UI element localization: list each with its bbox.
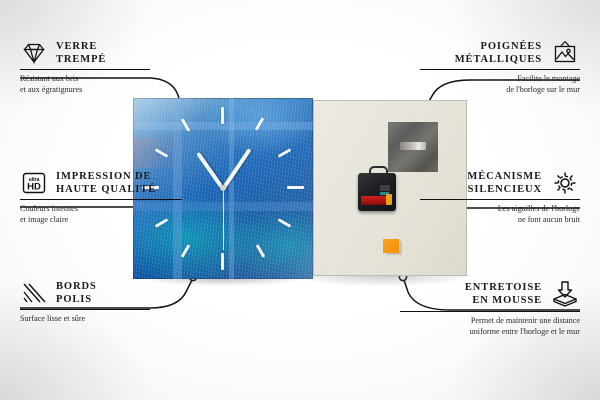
callout-header: ENTRETOISE EN MOUSSE: [400, 280, 580, 308]
callout-mecanisme-silencieux[interactable]: MÉCANISME SILENCIEUX Les aiguilles de l'…: [420, 170, 580, 225]
callout-subtitle-line1: Couleurs intenses: [20, 203, 190, 214]
callout-subtitle-line1: Facilite le montage: [420, 73, 580, 84]
callout-title-line2: SILENCIEUX: [467, 183, 542, 196]
callout-title-line1: MÉCANISME: [467, 170, 542, 183]
callout-header: ultra HD IMPRESSION DE HAUTE QUALITÉ: [20, 170, 190, 196]
ultra-hd-badge-bottom: HD: [27, 182, 41, 193]
callout-subtitle-line2: de l'horloge sur le mur: [420, 84, 580, 95]
battery-terminal: [386, 194, 392, 205]
hanging-frame-icon: [550, 40, 580, 66]
spacer-arrow-icon: [550, 280, 580, 308]
callout-rule: [20, 69, 150, 70]
callout-subtitle-line2: et image claire: [20, 214, 190, 225]
ultra-hd-badge-icon: ultra HD: [20, 171, 48, 195]
callout-title-line2: HAUTE QUALITÉ: [56, 183, 156, 196]
callout-header: MÉCANISME SILENCIEUX: [420, 170, 580, 196]
callout-title-line2: EN MOUSSE: [465, 294, 542, 307]
hanger-slot: [400, 142, 426, 150]
gear-icon: [550, 170, 580, 196]
callout-subtitle-line1: Les aiguilles de l'horloge: [420, 203, 580, 214]
diamond-icon: [20, 41, 48, 65]
callout-subtitle-line1: Résistant aux bris: [20, 73, 170, 84]
callout-title-line1: BORDS: [56, 280, 97, 293]
movement-chip: [380, 185, 390, 191]
callout-title-line2: TREMPÉ: [56, 53, 106, 66]
callout-impression-haute-qualite[interactable]: ultra HD IMPRESSION DE HAUTE QUALITÉ Cou…: [20, 170, 190, 225]
callout-verre-trempe[interactable]: VERRE TREMPÉ Résistant aux bris et aux é…: [20, 40, 170, 95]
callout-subtitle-line2: et aux égratignures: [20, 84, 170, 95]
callout-subtitle-line2: ne font aucun bruit: [420, 214, 580, 225]
callout-header: POIGNÉES MÉTALLIQUES: [420, 40, 580, 66]
foam-spacer-part: [383, 239, 399, 253]
callout-subtitle-line1: Surface lisse et sûre: [20, 313, 170, 324]
callout-subtitle-line1: Permet de maintenir une distance: [400, 315, 580, 326]
callout-title-line1: POIGNÉES: [455, 40, 542, 53]
callout-title-line2: POLIS: [56, 293, 97, 306]
hanger-plate-part: [388, 122, 438, 172]
callout-bords-polis[interactable]: BORDS POLIS Surface lisse et sûre: [20, 280, 170, 324]
callout-title-line1: VERRE: [56, 40, 106, 53]
callout-rule: [20, 309, 150, 310]
callout-rule: [20, 199, 182, 200]
callout-poignees-metalliques[interactable]: POIGNÉES MÉTALLIQUES Facilite le montage…: [420, 40, 580, 95]
callout-title-line1: ENTRETOISE: [465, 281, 542, 294]
infographic-canvas: VERRE TREMPÉ Résistant aux bris et aux é…: [0, 0, 600, 400]
polished-edges-icon: [20, 281, 48, 305]
callout-header: VERRE TREMPÉ: [20, 40, 170, 66]
quartz-movement-part: [358, 173, 396, 211]
callout-rule: [420, 199, 580, 200]
callout-rule: [400, 311, 580, 312]
callout-header: BORDS POLIS: [20, 280, 170, 306]
movement-hook: [369, 166, 388, 177]
callout-title-line1: IMPRESSION DE: [56, 170, 156, 183]
callout-title-line2: MÉTALLIQUES: [455, 53, 542, 66]
callout-subtitle-line2: uniforme entre l'horloge et le mur: [400, 326, 580, 337]
callout-entretoise-en-mousse[interactable]: ENTRETOISE EN MOUSSE Permet de maintenir…: [400, 280, 580, 337]
callout-rule: [420, 69, 580, 70]
